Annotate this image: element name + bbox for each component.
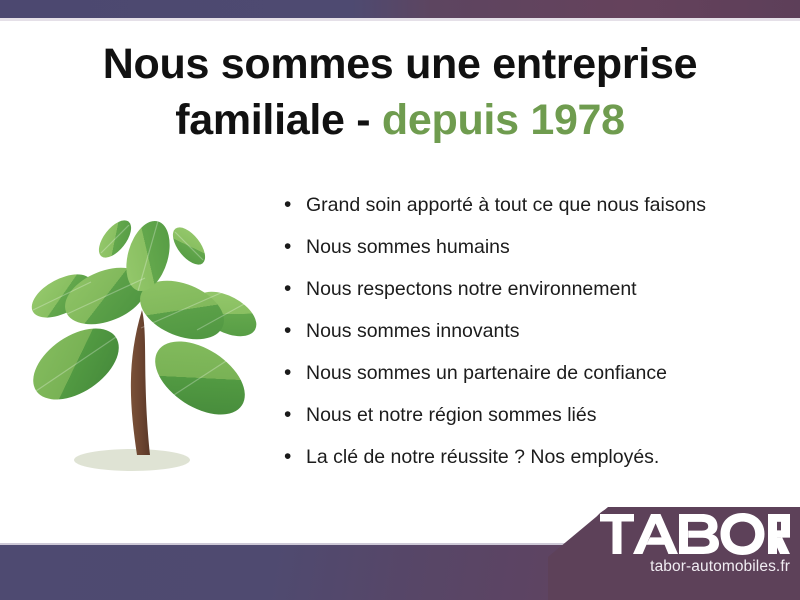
bullet-marker-icon: • — [284, 232, 306, 262]
headline-line-1: Nous sommes une entreprise — [40, 36, 760, 92]
top-decorative-bar — [0, 0, 800, 18]
list-item: • Nous respectons notre environnement — [284, 274, 784, 316]
bullet-marker-icon: • — [284, 190, 306, 220]
bullet-marker-icon: • — [284, 274, 306, 304]
logo-url-text: tabor-automobiles.fr — [600, 558, 790, 576]
bullet-marker-icon: • — [284, 358, 306, 388]
list-item-label: Nous et notre région sommes liés — [306, 400, 596, 430]
page-title: Nous sommes une entreprise familiale - d… — [40, 36, 760, 148]
headline-accent-year: depuis 1978 — [382, 96, 625, 144]
tree-ground-shadow — [74, 449, 190, 471]
bullet-marker-icon: • — [284, 316, 306, 346]
headline-line-2-prefix: familiale - — [175, 96, 382, 144]
tree-trunk — [131, 310, 150, 455]
bullet-marker-icon: • — [284, 400, 306, 430]
list-item-label: Grand soin apporté à tout ce que nous fa… — [306, 190, 706, 220]
list-item: • Nous sommes innovants — [284, 316, 784, 358]
tree-illustration — [14, 188, 276, 490]
list-item-label: La clé de notre réussite ? Nos employés. — [306, 442, 659, 472]
bullet-marker-icon: • — [284, 442, 306, 472]
list-item: • Nous et notre région sommes liés — [284, 400, 784, 442]
slide-canvas: Nous sommes une entreprise familiale - d… — [0, 0, 800, 600]
list-item-label: Nous sommes un partenaire de confiance — [306, 358, 667, 388]
list-item: • La clé de notre réussite ? Nos employé… — [284, 442, 784, 484]
tabor-wordmark-svg — [600, 512, 790, 556]
tree-svg — [14, 188, 276, 490]
headline-line-2: familiale - depuis 1978 — [40, 92, 760, 148]
list-item-label: Nous sommes innovants — [306, 316, 520, 346]
list-item: • Nous sommes un partenaire de confiance — [284, 358, 784, 400]
list-item: • Grand soin apporté à tout ce que nous … — [284, 190, 784, 232]
tabor-logo-wordmark — [600, 512, 790, 556]
list-item-label: Nous respectons notre environnement — [306, 274, 637, 304]
top-bar-hairline — [0, 18, 800, 21]
list-item-label: Nous sommes humains — [306, 232, 510, 262]
bullet-list: • Grand soin apporté à tout ce que nous … — [284, 190, 784, 484]
list-item: • Nous sommes humains — [284, 232, 784, 274]
